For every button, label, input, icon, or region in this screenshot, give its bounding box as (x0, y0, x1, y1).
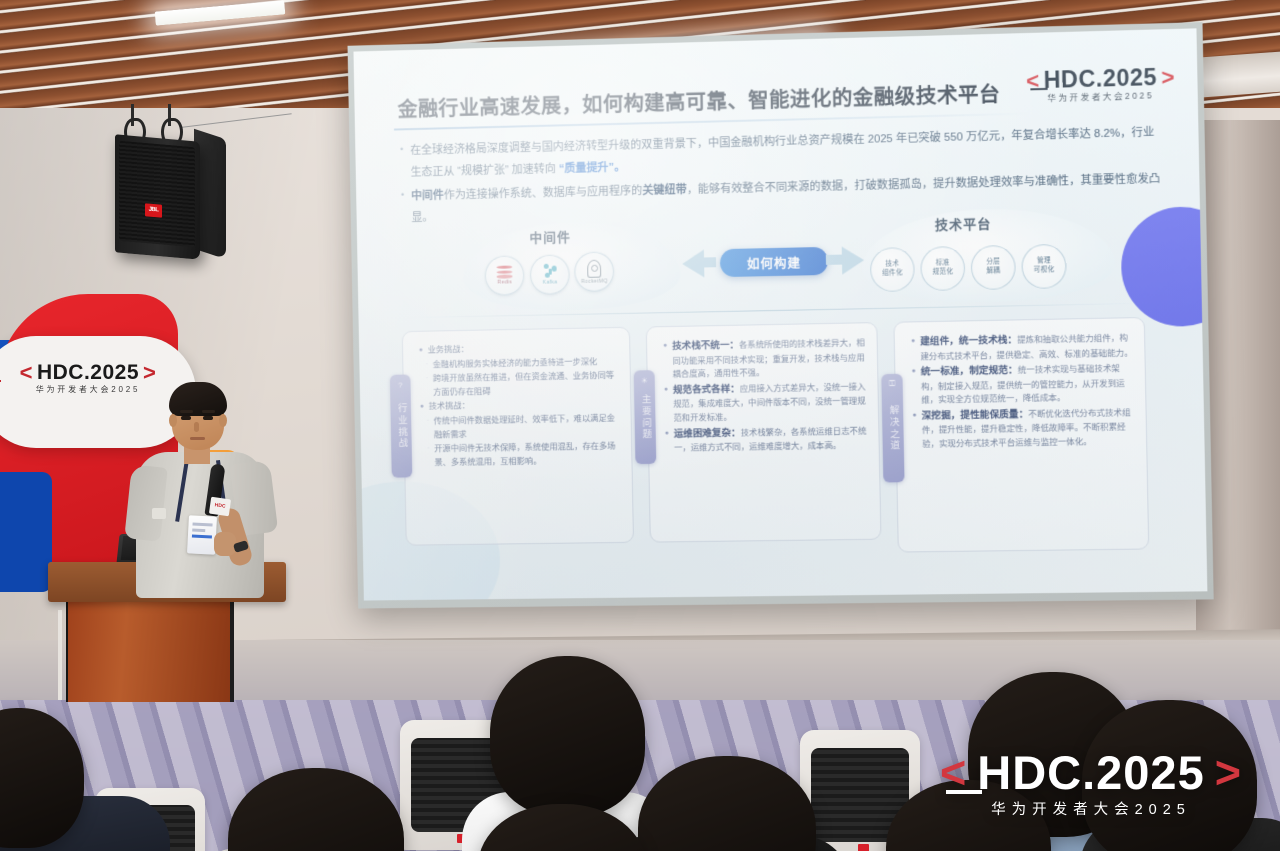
bullet-dot-icon: ● (665, 426, 670, 455)
bullet-dot-icon: · (427, 443, 429, 470)
panel-solutions: ●建组件，统一技术栈：提炼和抽取公共能力组件，构建分布式技术平台，提供稳定、高效… (893, 317, 1149, 553)
audience-head (638, 756, 816, 851)
question-mark-icon: ? (396, 381, 405, 392)
tab-label: 主要问题 (638, 394, 653, 441)
panel-list-item: ●技术栈不统一：各系统所使用的技术栈差异大，相同功能采用不同技术实现；重复开发，… (663, 335, 867, 381)
hdc-subtitle: 华为开发者大会2025 (940, 798, 1242, 819)
panel-item-text: 传统中间件数据处理延时、效率低下，难以满足金融新需求 (434, 412, 622, 442)
hdc-watermark-logo: < HDC.2025 > 华为开发者大会2025 (940, 745, 1242, 819)
bullet-dot-icon: ● (911, 334, 916, 363)
chevron-right-icon: > (1215, 747, 1242, 799)
bullet-dot-icon: ● (419, 344, 423, 358)
panel-item-text: 开源中间件无技术保障，系统使用混乱，存在多场景、多系统混用，互相影响。 (434, 440, 622, 470)
redis-icon (497, 266, 513, 279)
arrow-left-icon (682, 250, 704, 278)
panel-item-text: 规范各式各样：应用接入方式差异大，没统一接入规范，集成难度大，中间件版本不同，没… (673, 379, 868, 425)
audience-head (490, 656, 645, 816)
chevron-left-icon: < (20, 360, 33, 386)
chevron-left-icon: < (1026, 67, 1040, 94)
kafka-icon (542, 264, 557, 279)
speaker-grille-icon (119, 141, 195, 248)
slide-hdc-logo: < HDC.2025 > 华为开发者大会2025 (1026, 63, 1176, 104)
panel-tab-main-problems: ☀ 主要问题 (634, 370, 657, 464)
bullet-dot-icon: · (426, 372, 428, 399)
bullet-dot-icon: · (426, 358, 428, 372)
panel-item-text: 建组件，统一技术栈：提炼和抽取公共能力组件，构建分布式技术平台，提供稳定、高效、… (920, 330, 1134, 363)
chevron-right-icon: > (1161, 64, 1175, 91)
presenter-eye (203, 416, 213, 420)
arrow-left-tail (702, 257, 716, 267)
arrow-right-icon (842, 246, 865, 275)
bullet-dot-icon: · (427, 415, 429, 442)
bullet-dot-icon: ● (912, 409, 917, 452)
lightbulb-icon: ☀ (640, 376, 649, 387)
presenter-hair (169, 382, 227, 416)
presenter: HDC (128, 382, 288, 592)
chip-label: Redis (497, 279, 512, 285)
panel-list-item: ●统一标准，制定规范：统一技术实现与基础技术架构，制定接入规范，提供统一的管控能… (911, 361, 1135, 408)
panel-main-problems: ●技术栈不统一：各系统所使用的技术栈差异大，相同功能采用不同技术实现；重复开发，… (646, 322, 882, 543)
bullet-dot-icon: ● (663, 339, 668, 382)
panel-item-text: 跨境开放虽然在推进，但在资金流通、业务协同等方面仍存在阻碍 (433, 369, 620, 399)
projection-screen: 金融行业高速发展，如何构建高可靠、智能进化的金融级技术平台 < HDC.2025… (348, 22, 1214, 608)
panel-tab-industry-challenges: ? 行业挑战 (390, 374, 412, 477)
panel-list-item: ·传统中间件数据处理延时、效率低下，难以满足金融新需求 (420, 412, 621, 442)
audience-head (228, 768, 404, 851)
name-badge (187, 515, 217, 554)
panel-group: ●业务挑战：·金融机构服务实体经济的能力亟待进一步深化·跨境开放虽然在推进，但在… (402, 317, 1166, 561)
presenter-nose (194, 422, 199, 432)
panel-list-item: ·开源中间件无技术保障，系统使用混乱，存在多场景、多系统混用，互相影响。 (420, 440, 621, 470)
presenter-eyebrow (202, 410, 215, 413)
presenter-ear (169, 414, 177, 427)
presenter-left-sleeve (124, 464, 168, 541)
platform-cloud-label: 技术平台 (935, 213, 992, 233)
panel-list-item: ●运维困难复杂：技术栈繁杂，各系统运维日志不统一，运维方式不同，运维难度增大，成… (665, 423, 869, 455)
flow-diagram: 中间件 技术平台 Redis Kafka RocketMQ 如何构建 (413, 204, 1144, 319)
slide-canvas: 金融行业高速发展，如何构建高可靠、智能进化的金融级技术平台 < HDC.2025… (353, 28, 1207, 600)
hdc-subtitle: 华为开发者大会2025 (1026, 89, 1175, 105)
bullet-dot-icon: ● (911, 365, 916, 408)
hdc-wordmark: HDC.2025 (37, 361, 139, 385)
shirt-logo (152, 508, 166, 519)
mic-flag-logo: HDC (209, 497, 231, 517)
chip-label: RocketMQ (581, 278, 608, 285)
how-to-build-badge: 如何构建 (720, 247, 828, 277)
presentation-photo: JBL 金融行业高速发展，如何构建高可靠、智能进化的金融级技术平台 < HDC.… (0, 0, 1280, 851)
panel-list-item: ●规范各式各样：应用接入方式差异大，没统一接入规范，集成难度大，中间件版本不同，… (664, 379, 868, 425)
panel-list-item: ●建组件，统一技术栈：提炼和抽取公共能力组件，构建分布式技术平台，提供稳定、高效… (911, 330, 1135, 363)
hdc-wordmark: HDC.2025 (977, 745, 1204, 800)
panel-list-item: ·跨境开放虽然在推进，但在资金流通、业务协同等方面仍存在阻碍 (419, 369, 620, 399)
panel-industry-challenges: ●业务挑战：·金融机构服务实体经济的能力亟待进一步深化·跨境开放虽然在推进，但在… (402, 327, 634, 546)
presenter-hand (214, 532, 236, 556)
bullet-dot-icon: ● (664, 383, 669, 426)
bullet-dot-icon: • (401, 187, 405, 230)
bullet-dot-icon: • (400, 141, 404, 184)
chevron-left-icon: < (940, 747, 967, 799)
panel-item-text: 深挖掘，提性能保质量：不断优化迭代分布式技术组件，提升性能，提升稳定性，降低故障… (921, 405, 1136, 451)
panel-list-item: ●深挖掘，提性能保质量：不断优化迭代分布式技术组件，提升性能，提升稳定性，降低故… (912, 405, 1136, 452)
presenter-eyebrow (180, 410, 193, 413)
panel-item-text: 技术栈不统一：各系统所使用的技术栈差异大，相同功能采用不同技术实现；重复开发，技… (672, 335, 867, 381)
panel-tab-solutions: ⚿ 解决之道 (881, 374, 904, 483)
panel-item-text: 运维困难复杂：技术栈繁杂，各系统运维日志不统一，运维方式不同，运维难度增大，成本… (674, 423, 869, 455)
presenter-mouth (190, 437, 205, 440)
jbl-speaker: JBL (110, 110, 240, 270)
presenter-eye (181, 416, 191, 420)
bullet-dot-icon: ● (420, 400, 424, 414)
tab-label: 解决之道 (885, 405, 900, 452)
jbl-logo: JBL (145, 203, 162, 217)
chip-label: Kafka (543, 279, 558, 285)
middleware-cloud-label: 中间件 (529, 227, 571, 247)
rocketmq-icon (587, 259, 601, 277)
tab-label: 行业挑战 (394, 403, 409, 450)
hdc-underscore (0, 380, 1, 382)
panel-item-text: 统一标准，制定规范：统一技术实现与基础技术架构，制定接入规范，提供统一的管控能力… (921, 361, 1136, 408)
key-icon: ⚿ (887, 380, 897, 390)
standee-blue-shape-2 (0, 472, 52, 592)
presenter-ear (219, 414, 227, 427)
arrow-right-tail (826, 255, 842, 265)
